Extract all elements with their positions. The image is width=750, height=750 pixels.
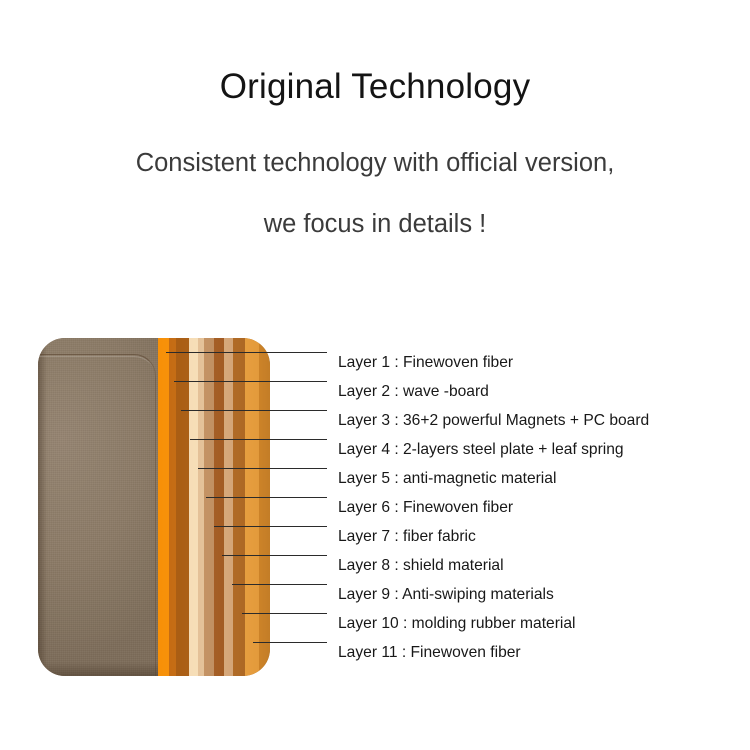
infographic-page: Original Technology Consistent technolog… — [0, 0, 750, 750]
layer-label-7: Layer 7 : fiber fabric — [338, 522, 738, 551]
layer-stripe-stack — [158, 338, 270, 676]
card-slot-highlight — [38, 356, 156, 676]
layer-stripe-2 — [169, 338, 176, 676]
layer-label-10: Layer 10 : molding rubber material — [338, 609, 738, 638]
layer-label-4: Layer 4 : 2-layers steel plate + leaf sp… — [338, 435, 738, 464]
layer-stripe-6 — [204, 338, 214, 676]
layer-label-8: Layer 8 : shield material — [338, 551, 738, 580]
layer-label-11: Layer 11 : Finewoven fiber — [338, 638, 738, 667]
subtitle-line-1: Consistent technology with official vers… — [0, 149, 750, 178]
layer-stripe-4 — [189, 338, 198, 676]
layer-stripe-7 — [214, 338, 224, 676]
layer-stripe-11 — [259, 338, 270, 676]
layer-label-5: Layer 5 : anti-magnetic material — [338, 464, 738, 493]
layer-label-1: Layer 1 : Finewoven fiber — [338, 348, 738, 377]
layer-label-list: Layer 1 : Finewoven fiberLayer 2 : wave … — [338, 348, 738, 667]
layer-stripe-8 — [224, 338, 233, 676]
layer-label-2: Layer 2 : wave -board — [338, 377, 738, 406]
page-title: Original Technology — [0, 68, 750, 107]
layer-label-9: Layer 9 : Anti-swiping materials — [338, 580, 738, 609]
layer-label-3: Layer 3 : 36+2 powerful Magnets + PC boa… — [338, 406, 738, 435]
layer-label-6: Layer 6 : Finewoven fiber — [338, 493, 738, 522]
layer-stripe-9 — [233, 338, 245, 676]
subtitle-line-2: we focus in details ! — [0, 210, 750, 239]
product-illustration: KZDOO — [38, 338, 270, 676]
layer-stripe-10 — [245, 338, 259, 676]
layer-stripe-3 — [176, 338, 189, 676]
layer-stripe-1 — [158, 338, 169, 676]
